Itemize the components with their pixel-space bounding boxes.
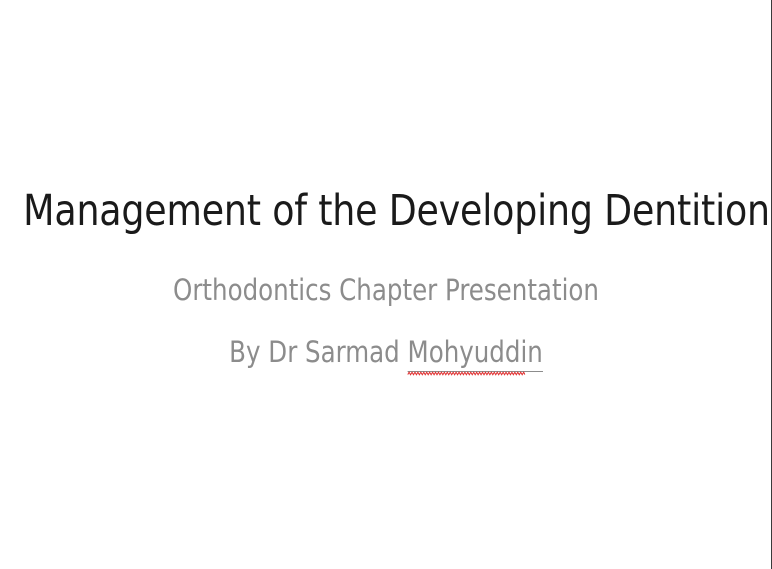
misspelled-word[interactable]: Mohyuddin: [408, 334, 543, 372]
misspelled-word-text: Mohyuddin: [408, 335, 543, 369]
presentation-slide: Management of the Developing Dentition O…: [0, 0, 772, 569]
slide-subtitle-line-1: Orthodontics Chapter Presentation: [23, 272, 749, 308]
author-prefix-text: By Dr Sarmad: [229, 335, 407, 369]
spellcheck-squiggle-icon: [408, 371, 525, 376]
slide-title: Management of the Developing Dentition: [23, 186, 749, 236]
slide-text-block: Management of the Developing Dentition O…: [0, 0, 772, 372]
slide-subtitle-line-2: By Dr Sarmad Mohyuddin: [23, 334, 749, 372]
